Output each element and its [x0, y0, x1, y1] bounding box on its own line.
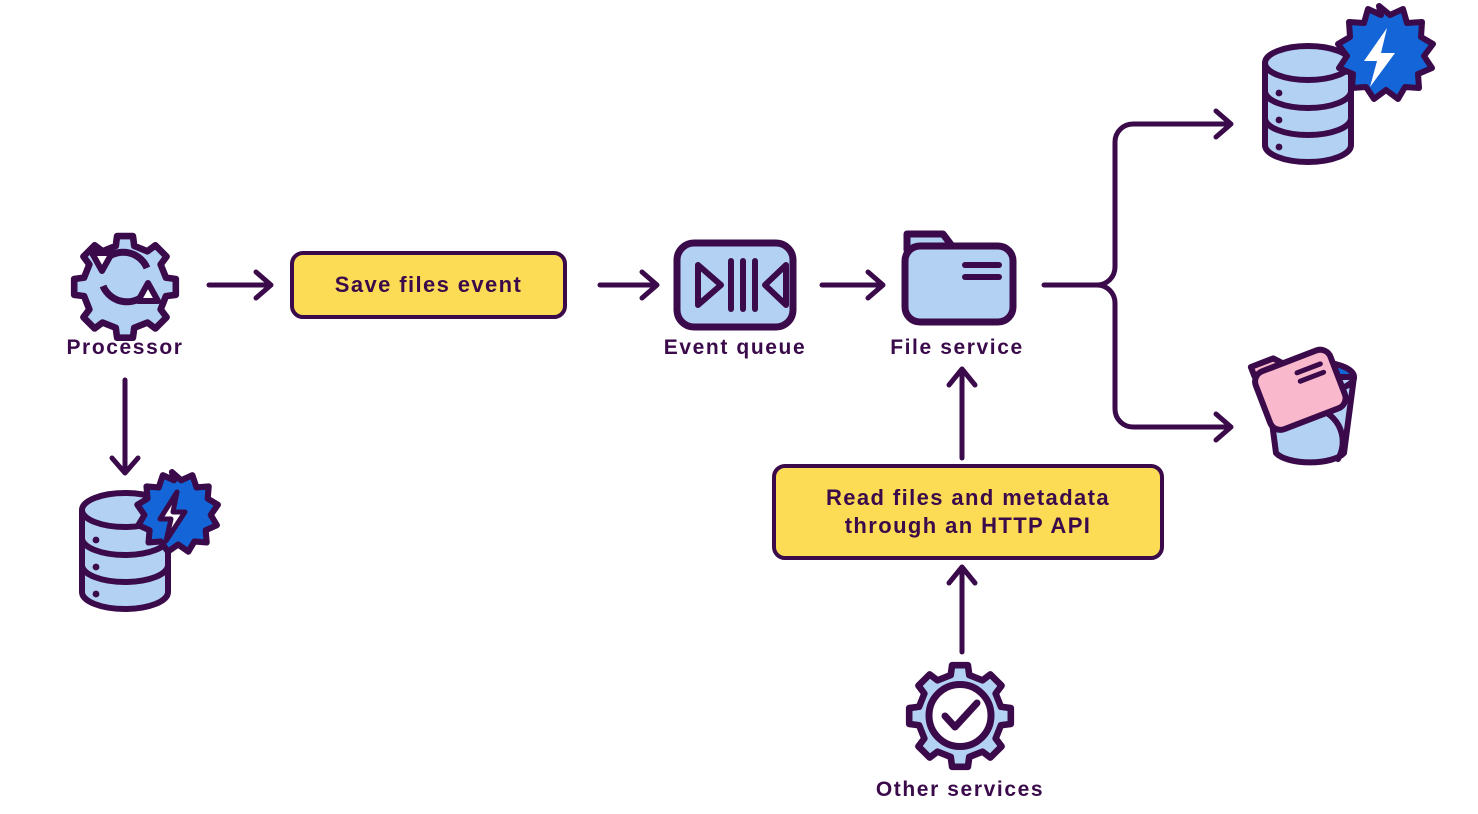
node-label-event-queue: Event queue [664, 336, 806, 360]
connector-file-service-split [1044, 111, 1231, 440]
connector-processor-to-save-event [209, 272, 271, 298]
diagram-canvas [0, 0, 1478, 814]
message-line-2: through an HTTP API [845, 513, 1092, 538]
message-box-read-files-http-api: Read files and metadata through an HTTP … [772, 464, 1164, 560]
gear-refresh-icon [74, 236, 176, 338]
connector-other-services-to-read-api [949, 567, 975, 652]
message-line-1: Read files and metadata [826, 485, 1110, 510]
node-label-processor: Processor [66, 336, 183, 360]
connector-save-event-to-queue [600, 272, 657, 298]
database-icon [1265, 46, 1351, 162]
queue-icon [677, 243, 793, 327]
connector-processor-to-database [112, 380, 138, 473]
folder-icon [905, 234, 1013, 322]
lightning-badge-icon [137, 472, 218, 552]
database-lightning-icon-storage [1265, 6, 1433, 162]
message-box-save-files-event: Save files event [290, 251, 567, 319]
gear-check-icon [909, 665, 1011, 767]
message-text-save-files-event: Save files event [335, 271, 523, 299]
connector-read-api-to-file-service [949, 369, 975, 458]
node-label-file-service: File service [890, 336, 1024, 360]
node-label-other-services: Other services [876, 778, 1044, 802]
message-text-read-files-http-api: Read files and metadata through an HTTP … [826, 484, 1110, 540]
database-lightning-icon-processor [82, 472, 218, 609]
bucket-folder-icon [1249, 339, 1354, 462]
lightning-badge-icon [1338, 6, 1433, 99]
connector-queue-to-file-service [822, 272, 883, 298]
